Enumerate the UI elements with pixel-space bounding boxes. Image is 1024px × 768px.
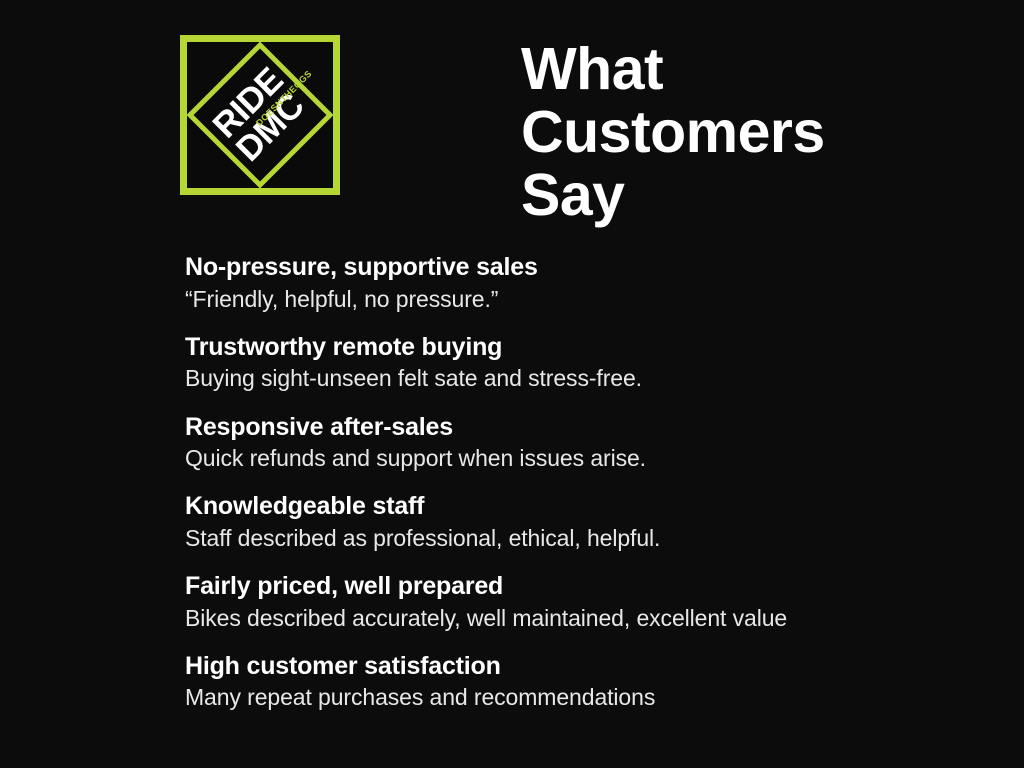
- page-title-line-1: What: [521, 38, 991, 101]
- testimonial-title: Trustworthy remote buying: [185, 332, 985, 363]
- list-item: Trustworthy remote buying Buying sight-u…: [185, 332, 985, 393]
- list-item: High customer satisfaction Many repeat p…: [185, 651, 985, 712]
- testimonial-quote: Buying sight-unseen felt sate and stress…: [185, 364, 985, 393]
- list-item: Knowledgeable staff Staff described as p…: [185, 491, 985, 552]
- list-item: No-pressure, supportive sales “Friendly,…: [185, 252, 985, 313]
- list-item: Fairly priced, well prepared Bikes descr…: [185, 571, 985, 632]
- page-title: What Customers Say: [521, 38, 991, 227]
- testimonial-quote: Bikes described accurately, well maintai…: [185, 604, 985, 633]
- ride-dmc-logo: RIDE DMC DOESNTHEGGS: [180, 35, 340, 195]
- testimonial-list: No-pressure, supportive sales “Friendly,…: [185, 252, 985, 712]
- testimonial-title: Fairly priced, well prepared: [185, 571, 985, 602]
- slide-canvas: RIDE DMC DOESNTHEGGS What Customers Say …: [0, 0, 1024, 768]
- testimonial-quote: Many repeat purchases and recommendation…: [185, 683, 985, 712]
- testimonial-title: High customer satisfaction: [185, 651, 985, 682]
- testimonial-quote: “Friendly, helpful, no pressure.”: [185, 285, 985, 314]
- testimonial-title: No-pressure, supportive sales: [185, 252, 985, 283]
- testimonial-title: Responsive after-sales: [185, 412, 985, 443]
- list-item: Responsive after-sales Quick refunds and…: [185, 412, 985, 473]
- testimonial-title: Knowledgeable staff: [185, 491, 985, 522]
- page-title-line-2: Customers: [521, 101, 991, 164]
- testimonial-quote: Staff described as professional, ethical…: [185, 524, 985, 553]
- testimonial-quote: Quick refunds and support when issues ar…: [185, 444, 985, 473]
- page-title-line-3: Say: [521, 164, 991, 227]
